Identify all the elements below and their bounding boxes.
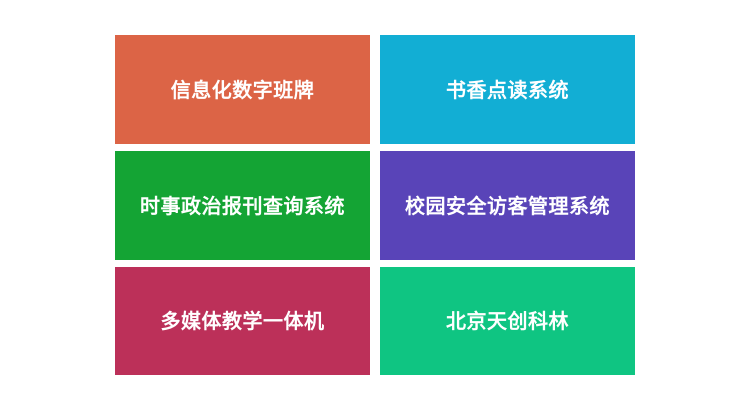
tile-grid: 信息化数字班牌 书香点读系统 时事政治报刊查询系统 校园安全访客管理系统 多媒体… bbox=[115, 35, 635, 365]
tile-digital-class-board[interactable]: 信息化数字班牌 bbox=[115, 35, 370, 144]
tile-campus-security-visitor-management-system[interactable]: 校园安全访客管理系统 bbox=[380, 151, 635, 260]
tile-label: 时事政治报刊查询系统 bbox=[140, 194, 345, 218]
tile-current-affairs-press-query-system[interactable]: 时事政治报刊查询系统 bbox=[115, 151, 370, 260]
tile-label: 信息化数字班牌 bbox=[171, 78, 315, 102]
tile-label: 校园安全访客管理系统 bbox=[405, 194, 610, 218]
tile-reading-point-system[interactable]: 书香点读系统 bbox=[380, 35, 635, 144]
tile-label: 书香点读系统 bbox=[446, 78, 569, 102]
tile-label: 北京天创科林 bbox=[446, 309, 569, 333]
tile-label: 多媒体教学一体机 bbox=[161, 309, 325, 333]
tile-multimedia-teaching-all-in-one[interactable]: 多媒体教学一体机 bbox=[115, 267, 370, 375]
tile-beijing-tianchuang-kelin[interactable]: 北京天创科林 bbox=[380, 267, 635, 375]
